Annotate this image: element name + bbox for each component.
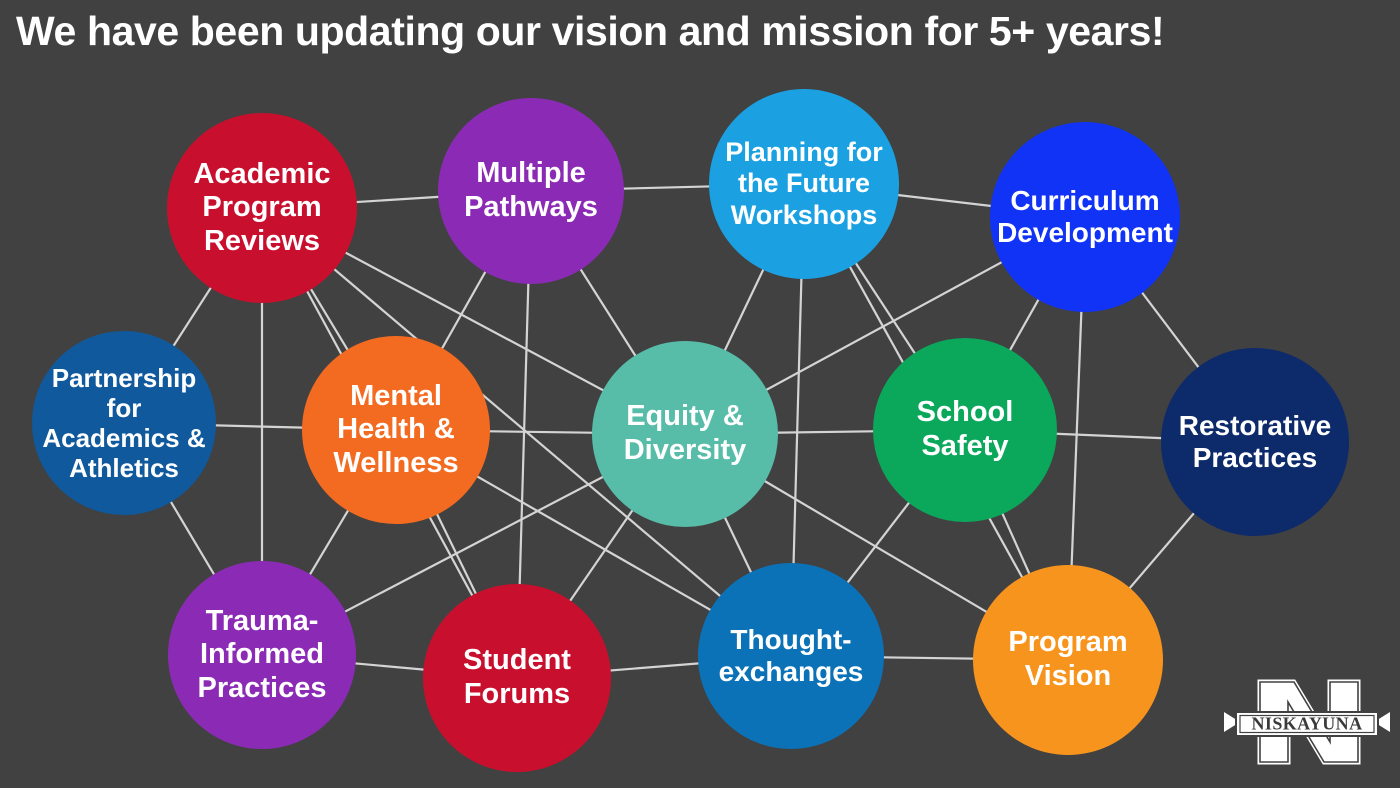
node-label-multiple-pathways: Multiple Pathways <box>438 157 624 224</box>
node-label-curriculum-development: Curriculum Development <box>990 185 1180 250</box>
node-trauma-informed-practices[interactable]: Trauma- Informed Practices <box>168 561 356 749</box>
node-label-school-safety: School Safety <box>873 396 1057 463</box>
node-curriculum-development[interactable]: Curriculum Development <box>990 122 1180 312</box>
node-thought-exchanges[interactable]: Thought- exchanges <box>698 563 884 749</box>
node-planning-for-the-future-workshops[interactable]: Planning for the Future Workshops <box>709 89 899 279</box>
node-mental-health-and-wellness[interactable]: Mental Health & Wellness <box>302 336 490 524</box>
node-equity-and-diversity[interactable]: Equity & Diversity <box>592 341 778 527</box>
node-label-mental-health-and-wellness: Mental Health & Wellness <box>302 380 490 481</box>
node-program-vision[interactable]: Program Vision <box>973 565 1163 755</box>
slide-canvas: We have been updating our vision and mis… <box>0 0 1400 788</box>
node-label-planning-for-the-future-workshops: Planning for the Future Workshops <box>709 137 899 231</box>
node-label-student-forums: Student Forums <box>423 644 611 711</box>
banner-ribbon: NISKAYUNA <box>1224 712 1390 736</box>
niskayuna-logo: NISKAYUNA <box>1222 660 1392 784</box>
node-label-thought-exchanges: Thought- exchanges <box>698 624 884 689</box>
node-student-forums[interactable]: Student Forums <box>423 584 611 772</box>
node-multiple-pathways[interactable]: Multiple Pathways <box>438 98 624 284</box>
node-partnership-for-academics-and-athletics[interactable]: Partnership for Academics & Athletics <box>32 331 216 515</box>
node-label-partnership-for-academics-and-athletics: Partnership for Academics & Athletics <box>32 363 216 484</box>
logo-banner-text: NISKAYUNA <box>1252 714 1363 734</box>
node-label-trauma-informed-practices: Trauma- Informed Practices <box>168 605 356 706</box>
node-academic-program-reviews[interactable]: Academic Program Reviews <box>167 113 357 303</box>
node-label-restorative-practices: Restorative Practices <box>1161 410 1349 475</box>
node-restorative-practices[interactable]: Restorative Practices <box>1161 348 1349 536</box>
node-label-program-vision: Program Vision <box>973 626 1163 693</box>
node-school-safety[interactable]: School Safety <box>873 338 1057 522</box>
node-label-academic-program-reviews: Academic Program Reviews <box>167 158 357 259</box>
node-label-equity-and-diversity: Equity & Diversity <box>592 400 778 467</box>
